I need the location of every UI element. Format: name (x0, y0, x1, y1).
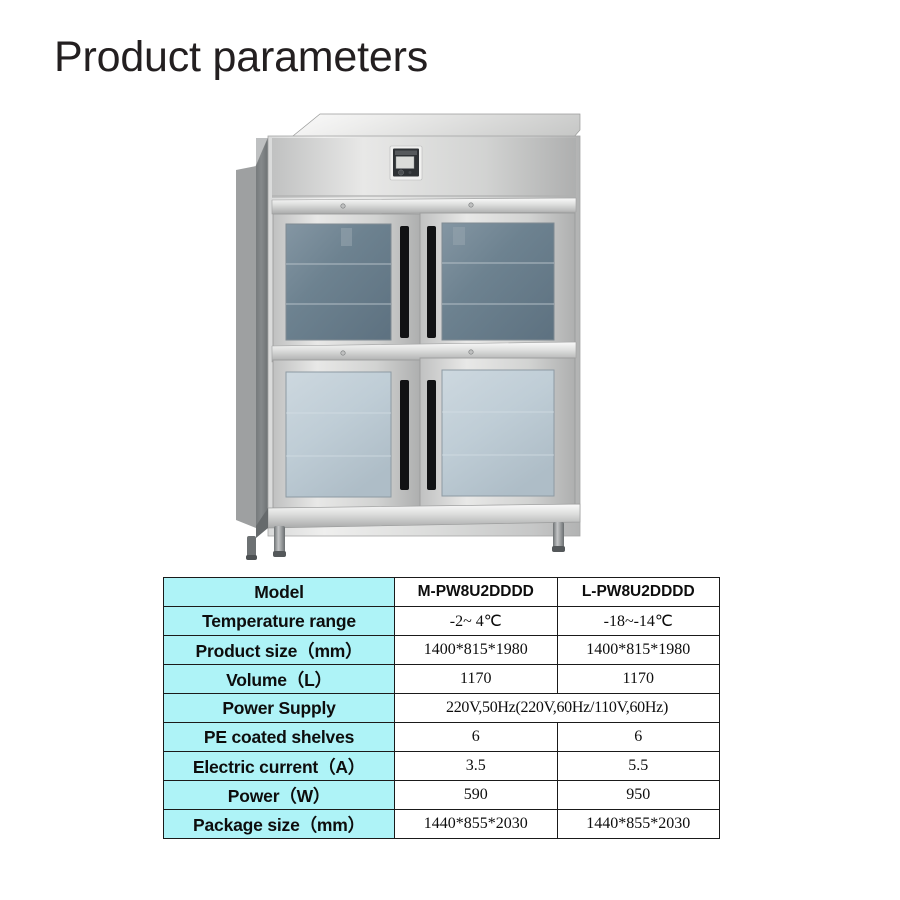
product-image-refrigerator (228, 108, 598, 563)
table-row: Electric current（A）3.55.5 (164, 752, 720, 781)
row-value-cell: 3.5 (395, 752, 558, 781)
column-header-cell: M-PW8U2DDDD (395, 578, 558, 607)
row-value-cell: 6 (557, 723, 720, 752)
row-value-cell: 1400*815*1980 (395, 636, 558, 665)
row-label-cell: Electric current（A） (164, 752, 395, 781)
row-label-cell: Model (164, 578, 395, 607)
lower-left-glass (286, 372, 391, 497)
lock-cylinder-lower-left (341, 351, 345, 355)
lower-right-door-handle (427, 380, 436, 490)
upper-left-door[interactable] (273, 214, 420, 348)
row-value-cell: 220V,50Hz(220V,60Hz/110V,60Hz) (395, 694, 720, 723)
adjustable-leg-front-left (273, 526, 286, 557)
table-row: Temperature range-2~ 4℃-18~-14℃ (164, 607, 720, 636)
adjustable-leg-rear-left (246, 536, 257, 560)
lock-cylinder-lower-right (469, 350, 473, 354)
upper-right-door[interactable] (420, 213, 575, 349)
row-label-cell: Power Supply (164, 694, 395, 723)
controller-display (396, 157, 414, 169)
row-label-cell: Temperature range (164, 607, 395, 636)
upper-door-rail (272, 198, 576, 214)
lower-left-door-handle (400, 380, 409, 490)
table-row: Product size（mm）1400*815*19801400*815*19… (164, 636, 720, 665)
adjustable-leg-front-right (552, 522, 565, 552)
row-value-cell: 5.5 (557, 752, 720, 781)
controller-power-button (398, 170, 403, 175)
row-label-cell: Product size（mm） (164, 636, 395, 665)
lower-right-glass (442, 370, 554, 496)
table-row: Volume（L）11701170 (164, 665, 720, 694)
upper-right-door-handle (427, 226, 436, 338)
row-label-cell: Power（W） (164, 781, 395, 810)
table-row: ModelM-PW8U2DDDDL-PW8U2DDDD (164, 578, 720, 607)
row-label-cell: Volume（L） (164, 665, 395, 694)
lock-cylinder-upper-left (341, 204, 345, 208)
row-value-cell: 1170 (557, 665, 720, 694)
digital-controller-panel (390, 146, 422, 180)
table-row: Power（W）590950 (164, 781, 720, 810)
row-label-cell: PE coated shelves (164, 723, 395, 752)
product-parameters-table-container: ModelM-PW8U2DDDDL-PW8U2DDDDTemperature r… (163, 577, 720, 839)
row-value-cell: 1440*855*2030 (395, 810, 558, 839)
row-value-cell: 1170 (395, 665, 558, 694)
row-value-cell: -18~-14℃ (557, 607, 720, 636)
table-row: PE coated shelves66 (164, 723, 720, 752)
product-parameters-table: ModelM-PW8U2DDDDL-PW8U2DDDDTemperature r… (163, 577, 720, 839)
lower-left-door[interactable] (273, 360, 420, 508)
page-title: Product parameters (54, 36, 428, 79)
row-label-cell: Package size（mm） (164, 810, 395, 839)
upper-left-door-handle (400, 226, 409, 338)
row-value-cell: 950 (557, 781, 720, 810)
table-row: Power Supply220V,50Hz(220V,60Hz/110V,60H… (164, 694, 720, 723)
row-value-cell: 6 (395, 723, 558, 752)
row-value-cell: 590 (395, 781, 558, 810)
column-header-cell: L-PW8U2DDDD (557, 578, 720, 607)
table-row: Package size（mm）1440*855*20301440*855*20… (164, 810, 720, 839)
row-value-cell: 1400*815*1980 (557, 636, 720, 665)
row-value-cell: -2~ 4℃ (395, 607, 558, 636)
upper-left-glass (286, 224, 391, 340)
lock-cylinder-upper-right (469, 203, 473, 207)
lower-right-door[interactable] (420, 358, 575, 508)
table-body: ModelM-PW8U2DDDDL-PW8U2DDDDTemperature r… (164, 578, 720, 839)
row-value-cell: 1440*855*2030 (557, 810, 720, 839)
